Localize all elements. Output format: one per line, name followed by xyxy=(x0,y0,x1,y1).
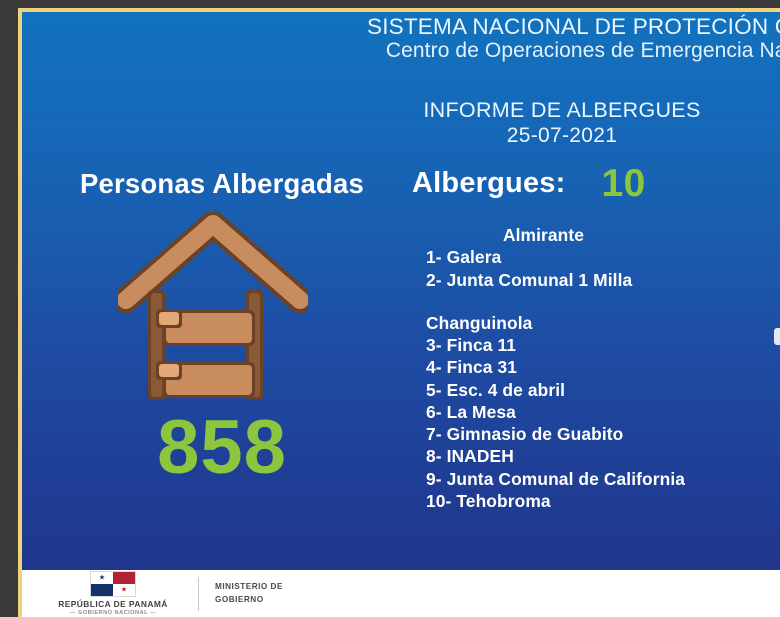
sheltered-people-label: Personas Albergadas xyxy=(32,168,412,200)
government-logo: ★ ★ REPÚBLICA DE PANAMÁ — GOBIERNO NACIO… xyxy=(40,571,283,616)
ministry-label-line2: GOBIERNO xyxy=(215,594,283,607)
list-item: 1- Galera xyxy=(426,246,756,268)
list-item: 3- Finca 11 xyxy=(426,334,756,356)
panama-flag-icon: ★ ★ xyxy=(90,571,136,597)
list-item: 5- Esc. 4 de abril xyxy=(426,379,756,401)
list-item: 9- Junta Comunal de California xyxy=(426,468,756,490)
ministry-label-line1: MINISTERIO DE xyxy=(215,581,283,594)
list-item: 10- Tehobroma xyxy=(426,490,756,512)
sheltered-people-count: 858 xyxy=(32,410,412,486)
list-item: 6- La Mesa xyxy=(426,401,756,423)
cropped-edge-graphic xyxy=(774,328,780,345)
organization-subtitle: Centro de Operaciones de Emergencia Naci… xyxy=(22,39,780,63)
list-item: 4- Finca 31 xyxy=(426,356,756,378)
list-item: 2- Junta Comunal 1 Milla xyxy=(426,269,756,291)
republic-label: REPÚBLICA DE PANAMÁ xyxy=(40,599,186,609)
footer-divider xyxy=(198,577,199,611)
republic-block: ★ ★ REPÚBLICA DE PANAMÁ — GOBIERNO NACIO… xyxy=(40,571,186,616)
slide-frame: SISTEMA NACIONAL DE PROTECIÓN CIVIL Cent… xyxy=(18,8,780,617)
ministry-block: MINISTERIO DE GOBIERNO xyxy=(215,581,283,606)
list-item: 8- INADEH xyxy=(426,445,756,467)
report-date: 25-07-2021 xyxy=(352,123,772,148)
shelter-list: Almirante 1- Galera 2- Junta Comunal 1 M… xyxy=(426,224,756,512)
header: SISTEMA NACIONAL DE PROTECIÓN CIVIL Cent… xyxy=(22,14,780,63)
screenshot-canvas: SISTEMA NACIONAL DE PROTECIÓN CIVIL Cent… xyxy=(0,0,780,617)
report-title-block: INFORME DE ALBERGUES 25-07-2021 xyxy=(352,98,772,149)
group-spacer xyxy=(426,291,756,312)
footer: ★ ★ REPÚBLICA DE PANAMÁ — GOBIERNO NACIO… xyxy=(22,570,780,617)
shelter-bunk-bed-icon xyxy=(118,212,308,404)
organization-title: SISTEMA NACIONAL DE PROTECIÓN CIVIL xyxy=(22,14,780,39)
slide-background: SISTEMA NACIONAL DE PROTECIÓN CIVIL Cent… xyxy=(22,12,780,570)
shelter-group-heading-almirante: Almirante xyxy=(426,224,756,246)
national-government-label: — GOBIERNO NACIONAL — xyxy=(40,610,186,616)
shelters-label: Albergues: xyxy=(412,167,565,200)
shelters-summary: Albergues: 10 xyxy=(412,164,742,203)
shelters-count: 10 xyxy=(601,164,645,203)
shelter-group-heading-changuinola: Changuinola xyxy=(426,312,756,334)
list-item: 7- Gimnasio de Guabito xyxy=(426,423,756,445)
report-title: INFORME DE ALBERGUES xyxy=(352,98,772,123)
